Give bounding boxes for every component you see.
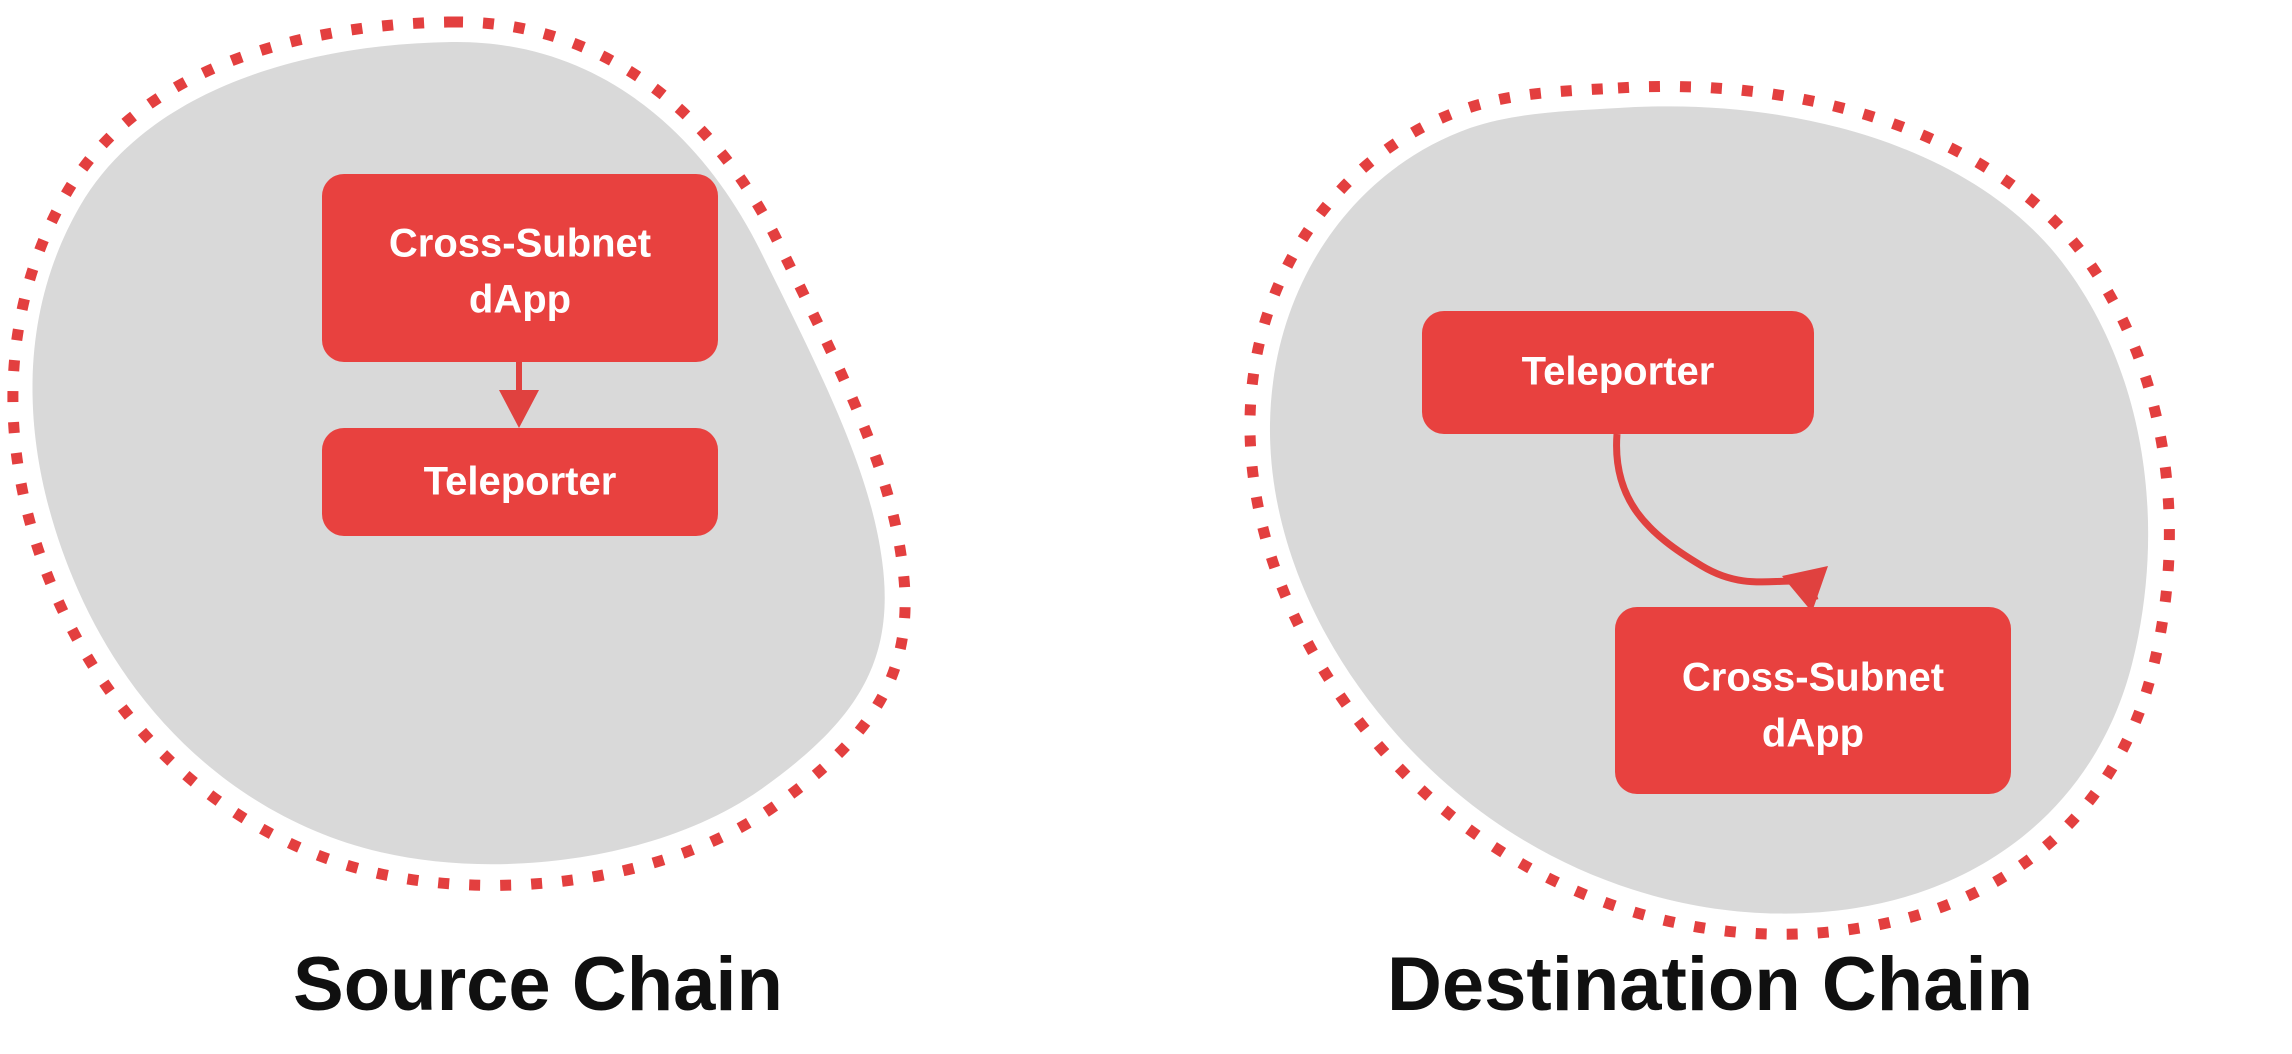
diagram-root: Cross-Subnet dApp Teleporter Source Chai… [0,0,2292,1054]
diagram-canvas: Cross-Subnet dApp Teleporter Source Chai… [0,0,2292,1054]
node-source-dapp-label-line2: dApp [469,278,571,322]
node-dest-teleporter-label: Teleporter [1522,350,1715,394]
node-source-dapp[interactable]: Cross-Subnet dApp [322,174,718,362]
node-dest-dapp-label-line1: Cross-Subnet [1682,656,1944,700]
node-source-teleporter[interactable]: Teleporter [322,428,718,536]
node-dest-dapp-rect[interactable] [1615,607,2011,794]
node-dest-teleporter[interactable]: Teleporter [1422,311,1814,434]
node-source-dapp-label-line1: Cross-Subnet [389,222,651,266]
node-dest-dapp[interactable]: Cross-Subnet dApp [1615,607,2011,794]
destination-chain-caption: Destination Chain [1387,942,2033,1027]
source-chain-caption: Source Chain [293,942,783,1027]
destination-chain-region [1250,86,2169,934]
node-dest-dapp-label-line2: dApp [1762,712,1864,756]
node-source-dapp-rect[interactable] [322,174,718,362]
node-source-teleporter-label: Teleporter [424,460,617,504]
